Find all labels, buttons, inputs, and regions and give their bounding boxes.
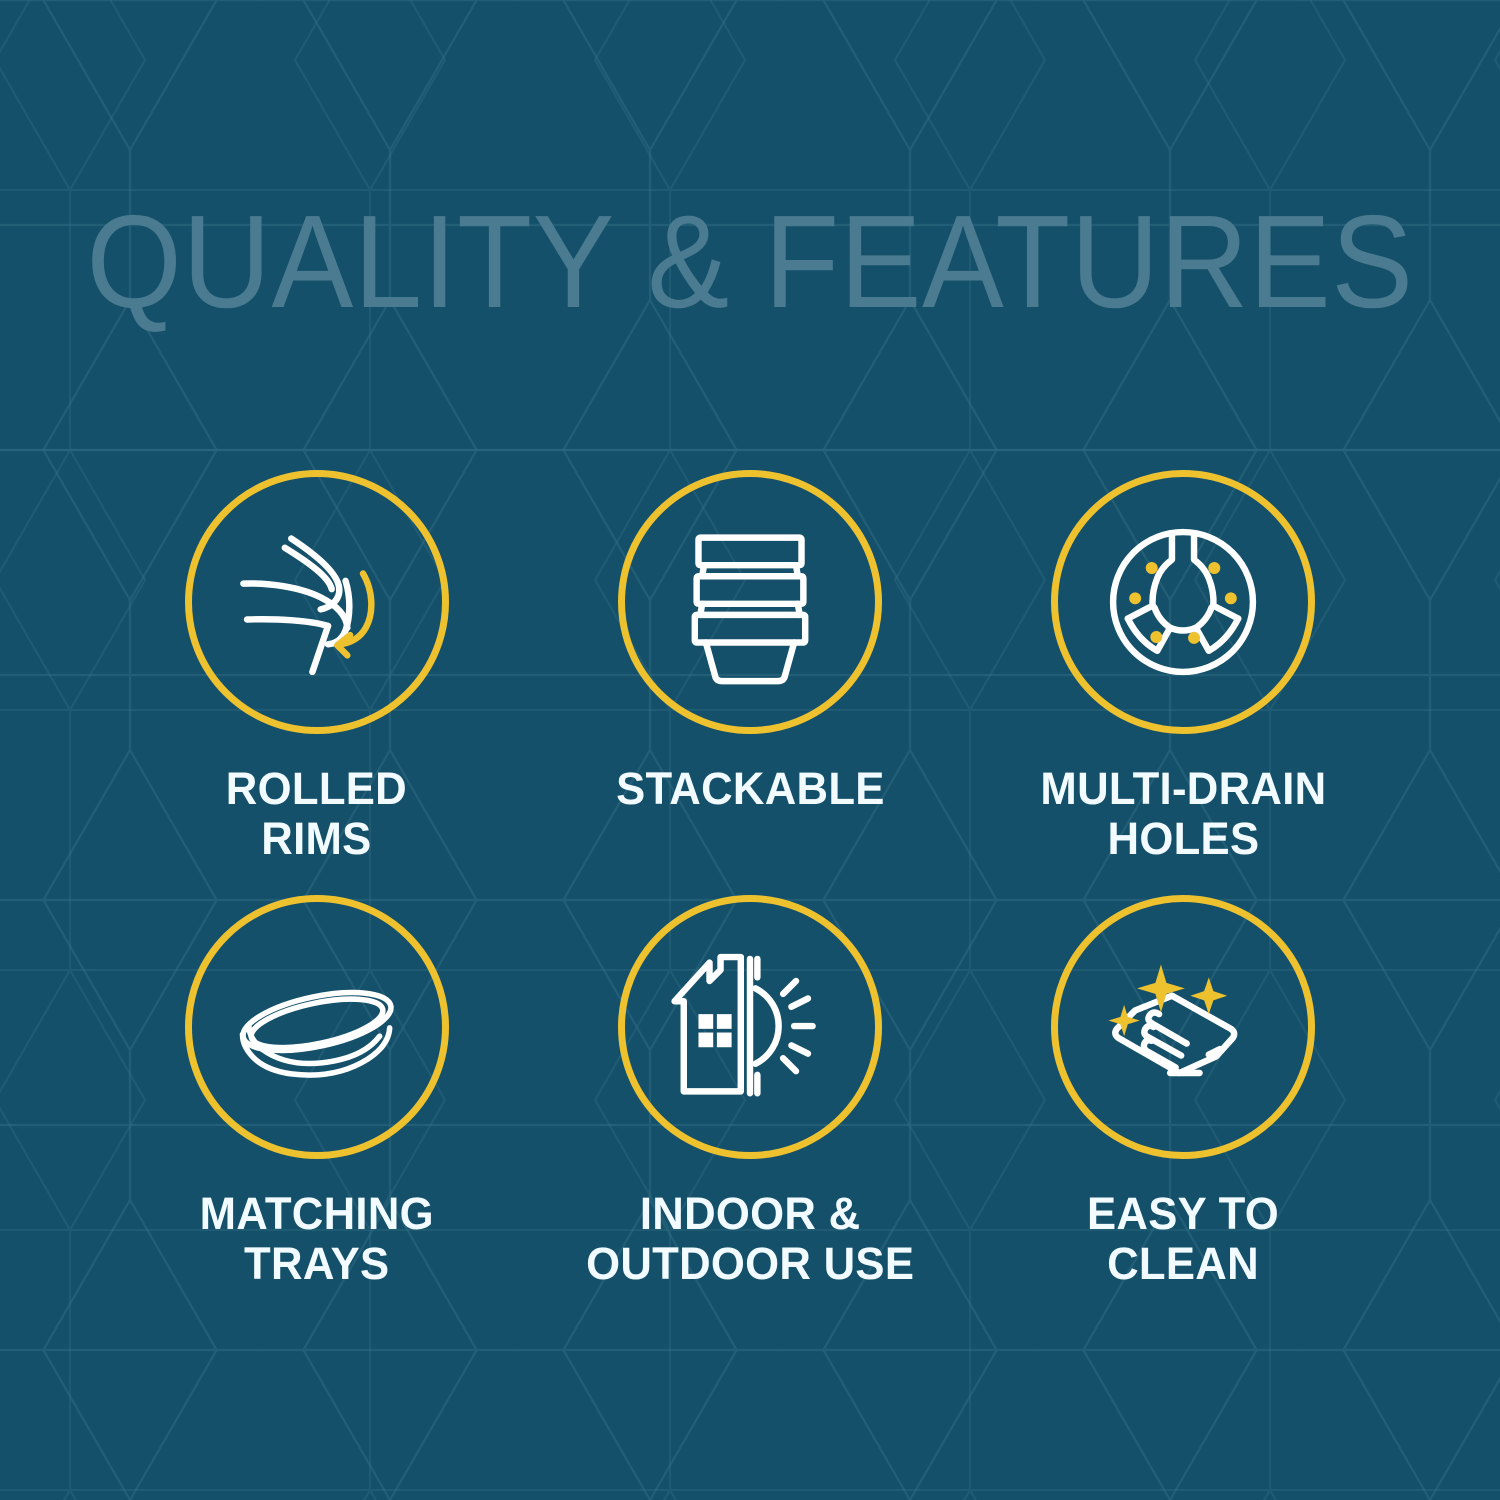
feature-label: STACKABLE — [616, 764, 885, 814]
feature-item-rolled-rims[interactable]: ROLLED RIMS — [100, 470, 533, 895]
feature-item-multi-drain-holes[interactable]: MULTI-DRAIN HOLES — [967, 470, 1400, 895]
feature-grid: ROLLED RIMS STACKABLE — [100, 470, 1400, 1320]
feature-label: MATCHING TRAYS — [200, 1189, 434, 1290]
feature-poster: QUALITY & FEATURES ROLLED RIMS — [0, 0, 1500, 1500]
feature-label: INDOOR & OUTDOOR USE — [586, 1189, 914, 1290]
feature-label: EASY TO CLEAN — [1087, 1189, 1279, 1290]
feature-badge — [1051, 895, 1315, 1159]
feature-item-matching-trays[interactable]: MATCHING TRAYS — [100, 895, 533, 1320]
hand-wipe-sparkle-icon — [1091, 935, 1275, 1119]
drain-holes-icon — [1091, 510, 1275, 694]
stacked-pots-icon — [658, 510, 842, 694]
rolled-rim-icon — [225, 510, 409, 694]
feature-badge — [185, 470, 449, 734]
feature-item-stackable[interactable]: STACKABLE — [533, 470, 966, 895]
feature-badge — [618, 470, 882, 734]
feature-label: MULTI-DRAIN HOLES — [1040, 764, 1326, 865]
page-title: QUALITY & FEATURES — [53, 196, 1448, 328]
oval-tray-icon — [225, 935, 409, 1119]
feature-item-easy-to-clean[interactable]: EASY TO CLEAN — [967, 895, 1400, 1320]
feature-badge — [185, 895, 449, 1159]
feature-badge — [1051, 470, 1315, 734]
feature-label: ROLLED RIMS — [226, 764, 407, 865]
feature-badge — [618, 895, 882, 1159]
house-sun-icon — [658, 935, 842, 1119]
feature-item-indoor-outdoor[interactable]: INDOOR & OUTDOOR USE — [533, 895, 966, 1320]
